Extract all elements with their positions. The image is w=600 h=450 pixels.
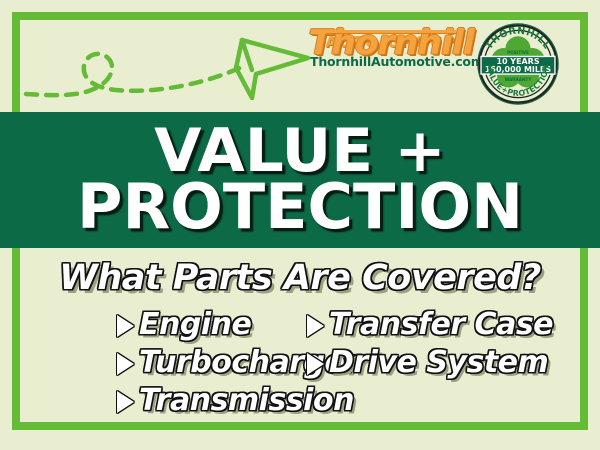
- header-zone: Thornhill AUTO GROUP ThornhillAutomotive…: [0, 0, 600, 112]
- logo-overline-bar: [326, 30, 456, 33]
- thornhill-logo: Thornhill AUTO GROUP ThornhillAutomotive…: [310, 26, 472, 104]
- warranty-seal-badge: THORNHILL POSITIVE 10 YEARS 150,000 MILE…: [476, 22, 560, 106]
- list-item: Transmission: [117, 382, 295, 420]
- part-label: Transfer Case: [329, 310, 553, 340]
- subtitle-block: What Parts Are Covered?: [0, 252, 600, 304]
- headline-block: VALUE + PROTECTION: [0, 112, 600, 248]
- list-item: Drive System: [307, 344, 545, 382]
- triangle-right-icon: [117, 315, 134, 337]
- list-item: Turbocharger: [117, 344, 295, 382]
- list-item: Engine: [117, 306, 295, 344]
- part-label: Drive System: [329, 348, 548, 378]
- triangle-right-icon: [117, 353, 134, 375]
- headline-line-2: PROTECTION: [77, 182, 523, 233]
- advertisement-banner: Thornhill AUTO GROUP ThornhillAutomotive…: [0, 0, 600, 450]
- triangle-right-icon: [117, 391, 134, 413]
- part-label: Transmission: [139, 386, 354, 416]
- part-label: Engine: [139, 310, 251, 340]
- seal-small-bottom-text: WARRANTY: [505, 77, 533, 82]
- subtitle-text: What Parts Are Covered?: [59, 261, 541, 296]
- seal-small-top-text: POSITIVE: [507, 50, 529, 55]
- list-item: Transfer Case: [307, 306, 545, 344]
- parts-column-right: Transfer Case Drive System: [295, 306, 545, 382]
- triangle-right-icon: [307, 315, 324, 337]
- headline-line-1: VALUE +: [154, 127, 445, 176]
- triangle-right-icon: [307, 353, 324, 375]
- parts-column-left: Engine Turbocharger Transmission: [55, 306, 295, 420]
- dashed-loop-arrow-icon: [20, 22, 310, 110]
- covered-parts-list: Engine Turbocharger Transmission Transfe…: [0, 306, 600, 424]
